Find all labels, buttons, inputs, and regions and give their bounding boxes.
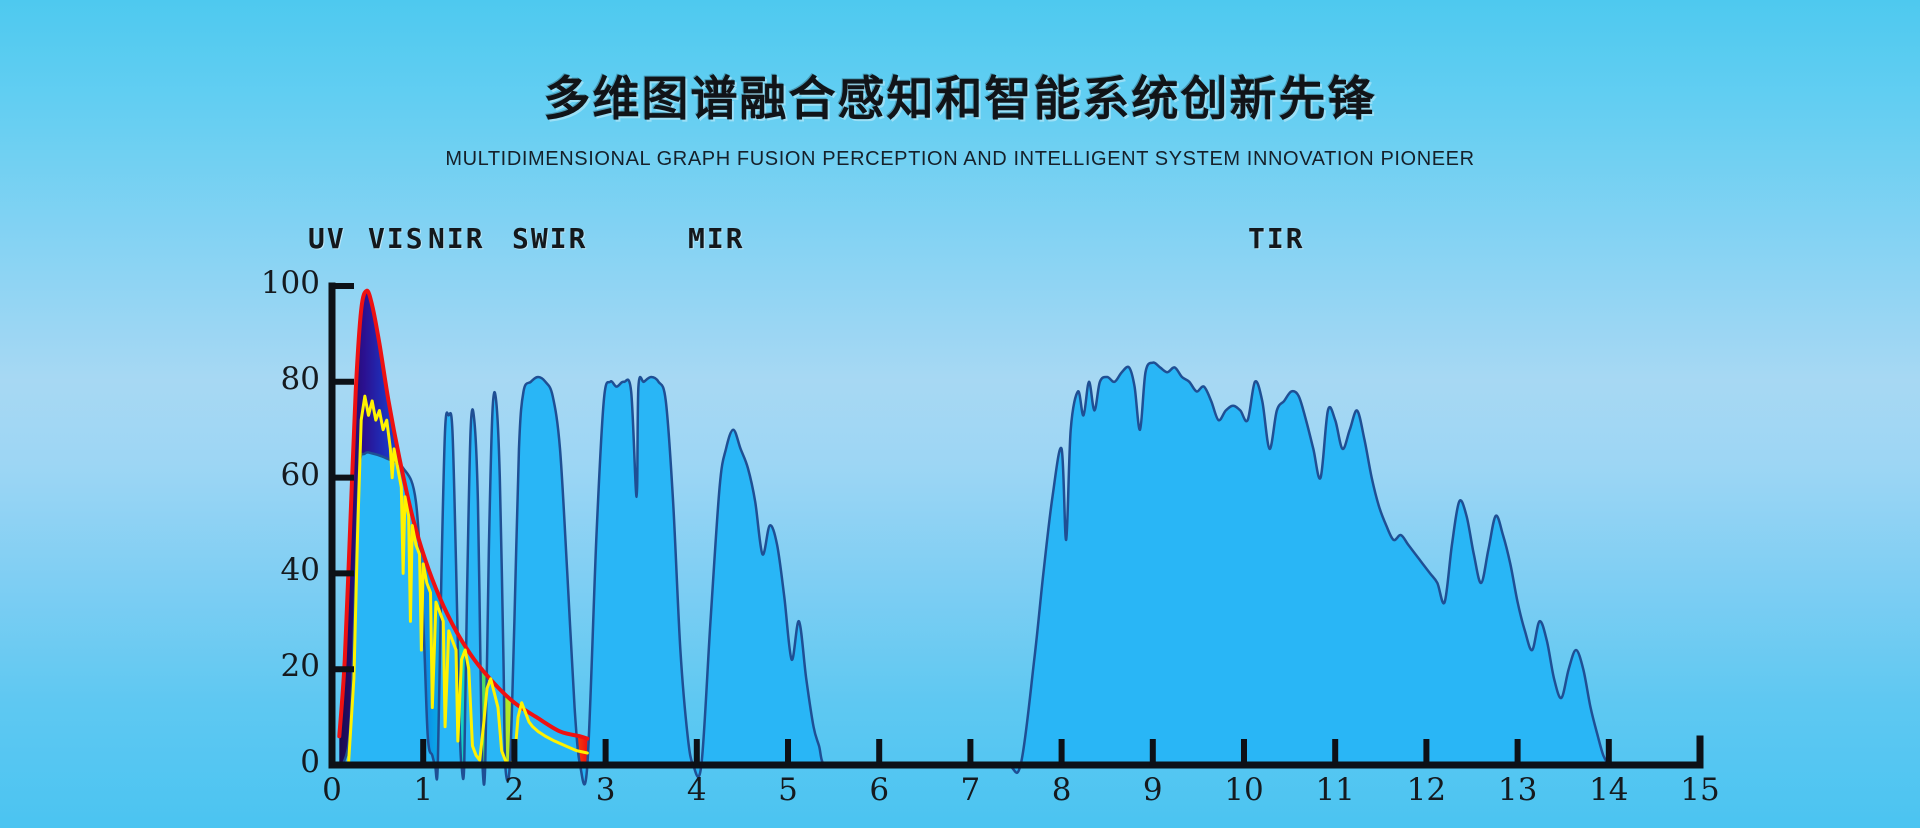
y-tick-label: 40 (240, 552, 320, 588)
chart-series-group (339, 291, 1609, 785)
y-tick-label: 100 (240, 265, 320, 301)
x-tick-label: 1 (393, 772, 453, 808)
x-tick-label: 14 (1579, 772, 1639, 808)
x-tick-label: 11 (1305, 772, 1365, 808)
x-tick-label: 12 (1396, 772, 1456, 808)
y-tick-label: 60 (240, 457, 320, 493)
y-tick-label: 80 (240, 361, 320, 397)
atmospheric-window-area (343, 363, 1609, 785)
x-tick-label: 13 (1488, 772, 1548, 808)
x-tick-label: 15 (1670, 772, 1730, 808)
x-tick-label: 10 (1214, 772, 1274, 808)
x-tick-label: 8 (1032, 772, 1092, 808)
x-tick-label: 4 (667, 772, 727, 808)
x-tick-label: 9 (1123, 772, 1183, 808)
x-tick-label: 3 (576, 772, 636, 808)
x-tick-label: 5 (758, 772, 818, 808)
x-tick-label: 0 (302, 772, 362, 808)
y-tick-label: 20 (240, 648, 320, 684)
banner-stage: 多维图谱融合感知和智能系统创新先锋 MULTIDIMENSIONAL GRAPH… (0, 0, 1920, 828)
spectral-chart (0, 0, 1920, 828)
x-tick-label: 6 (849, 772, 909, 808)
x-tick-label: 7 (940, 772, 1000, 808)
x-tick-label: 2 (484, 772, 544, 808)
